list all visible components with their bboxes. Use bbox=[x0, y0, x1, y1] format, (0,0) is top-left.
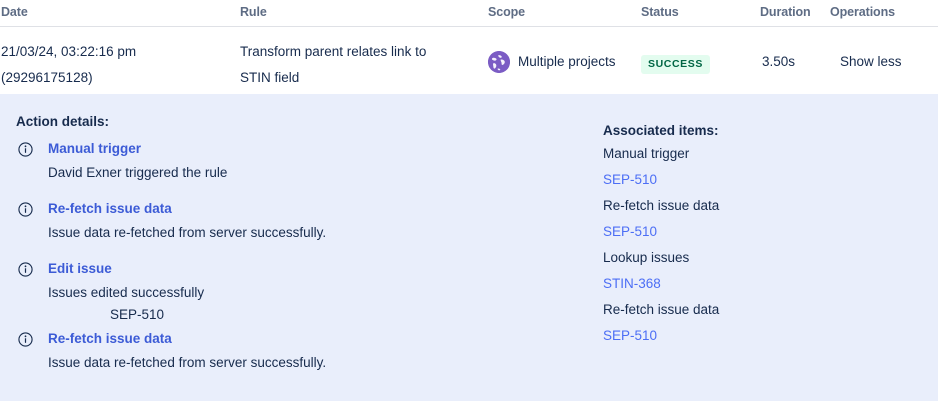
action-affected-issue: SEP-510 bbox=[48, 304, 560, 326]
associated-item-issue-link[interactable]: SEP-510 bbox=[603, 219, 903, 245]
associated-items-title: Associated items: bbox=[603, 122, 903, 140]
rule-name-line1: Transform parent relates link to bbox=[240, 44, 426, 59]
associated-item-issue-link[interactable]: SEP-510 bbox=[603, 323, 903, 349]
action-description: Issue data re-fetched from server succes… bbox=[48, 222, 560, 244]
cell-rule: Transform parent relates link to STIN fi… bbox=[240, 39, 465, 91]
cell-status: SUCCESS bbox=[641, 50, 710, 76]
show-less-button[interactable]: Show less bbox=[840, 49, 902, 75]
associated-item-issue-link[interactable]: STIN-368 bbox=[603, 271, 903, 297]
cell-duration: 3.50s bbox=[762, 49, 795, 75]
associated-item-label: Manual trigger bbox=[603, 141, 903, 167]
info-icon bbox=[18, 332, 33, 347]
action-item: Re-fetch issue data Issue data re-fetche… bbox=[0, 330, 560, 386]
action-title-link[interactable]: Manual trigger bbox=[48, 140, 560, 158]
action-item: Re-fetch issue data Issue data re-fetche… bbox=[0, 200, 560, 256]
expanded-detail-panel: Action details: Manual trigger David Exn… bbox=[0, 94, 938, 401]
associated-item-issue-link[interactable]: SEP-510 bbox=[603, 167, 903, 193]
info-icon bbox=[18, 202, 33, 217]
action-title-link[interactable]: Re-fetch issue data bbox=[48, 330, 560, 348]
column-header-duration: Duration bbox=[760, 5, 811, 19]
associated-items-section: Associated items: Manual trigger SEP-510… bbox=[603, 122, 903, 349]
execution-id: (29296175128) bbox=[1, 65, 136, 91]
column-header-rule: Rule bbox=[240, 5, 267, 19]
column-header-date: Date bbox=[1, 5, 28, 19]
cell-scope: Multiple projects bbox=[488, 49, 616, 75]
status-badge: SUCCESS bbox=[641, 55, 710, 74]
column-header-operations: Operations bbox=[830, 5, 895, 19]
action-item: Manual trigger David Exner triggered the… bbox=[0, 140, 560, 196]
automation-audit-log-row: Date Rule Scope Status Duration Operatio… bbox=[0, 0, 938, 401]
info-icon bbox=[18, 142, 33, 157]
associated-item-label: Re-fetch issue data bbox=[603, 193, 903, 219]
action-description: Issues edited successfully bbox=[48, 282, 560, 304]
rule-name-line2: STIN field bbox=[240, 65, 465, 91]
info-icon bbox=[18, 262, 33, 277]
cell-date: 21/03/24, 03:22:16 pm (29296175128) bbox=[1, 39, 136, 91]
action-item: Edit issue Issues edited successfully SE… bbox=[0, 260, 560, 326]
table-row[interactable]: 21/03/24, 03:22:16 pm (29296175128) Tran… bbox=[0, 27, 938, 94]
action-title-link[interactable]: Re-fetch issue data bbox=[48, 200, 560, 218]
action-details-list: Manual trigger David Exner triggered the… bbox=[0, 140, 560, 390]
associated-item-label: Re-fetch issue data bbox=[603, 297, 903, 323]
date-value: 21/03/24, 03:22:16 pm bbox=[1, 44, 136, 59]
action-description: Issue data re-fetched from server succes… bbox=[48, 352, 560, 374]
associated-item-label: Lookup issues bbox=[603, 245, 903, 271]
action-details-title: Action details: bbox=[16, 114, 109, 129]
column-header-status: Status bbox=[641, 5, 679, 19]
table-header: Date Rule Scope Status Duration Operatio… bbox=[0, 0, 938, 27]
column-header-scope: Scope bbox=[488, 5, 525, 19]
globe-icon bbox=[488, 51, 510, 73]
action-description: David Exner triggered the rule bbox=[48, 162, 560, 184]
action-title-link[interactable]: Edit issue bbox=[48, 260, 560, 278]
scope-label: Multiple projects bbox=[518, 49, 616, 75]
